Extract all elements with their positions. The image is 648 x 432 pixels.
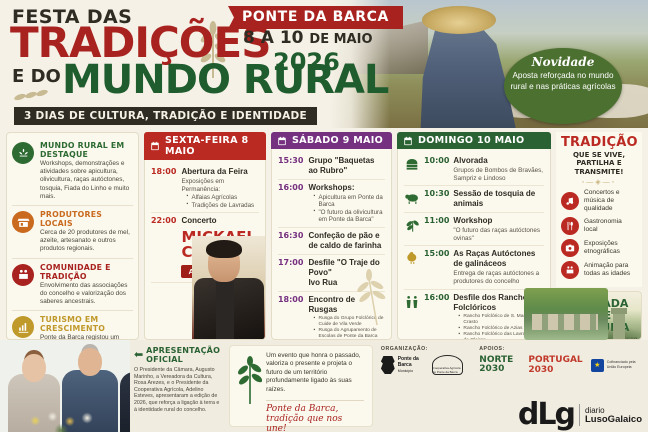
beehive-icon	[404, 157, 420, 173]
highlight-item: MUNDO RURAL EM DESTAQUE Workshops, demon…	[12, 137, 133, 206]
tradition-item: Gastronomia local	[561, 217, 637, 235]
event-dates-main: 8 A 10	[243, 28, 303, 48]
event-time: 15:00	[424, 249, 449, 285]
church-tower-illustration	[613, 313, 625, 339]
event-dates: 8 A 10 DE MAIO	[243, 28, 373, 48]
logo-ponte-da-barca-name: Ponte da Barca	[398, 356, 419, 368]
day-header-sunday: DOMINGO 10 MAIO	[397, 132, 551, 149]
calendar-icon	[277, 136, 287, 146]
tradition-panel: TRADIÇÃO QUE SE VIVE, PARTILHA E TRANSMI…	[556, 132, 642, 287]
plant-icon	[12, 142, 34, 164]
support-label: APOIOS:	[479, 346, 642, 352]
logo-european-union: Cofinanciado pela União Europeia	[591, 359, 642, 372]
logo-divider	[579, 404, 580, 426]
event-title: Confeção de pão e de caldo de farinha	[308, 231, 385, 251]
event-sublist: Apicultura em Ponte da Barca "O futuro d…	[313, 194, 385, 224]
calendar-icon	[403, 136, 413, 146]
event-time: 10:00	[424, 156, 449, 182]
event-title: Sessão de tosquia de animais	[453, 189, 544, 209]
event-row: 15:00 As Raças Autóctones de galináceos …	[404, 246, 544, 289]
bridge-photo	[524, 288, 608, 340]
event-time: 17:00	[278, 258, 303, 288]
event-row: 10:30 Sessão de tosquia de animais	[404, 186, 544, 213]
highlight-title: TURISMO EM CRESCIMENTO	[40, 315, 133, 333]
event-note: Exposições em Permanência:	[181, 178, 259, 193]
event-note: Grupos de Bombos de Bravães, Sampriz e L…	[453, 167, 544, 182]
footer-section: ⬅ APRESENTAÇÃO OFICIAL O Presidente da C…	[0, 340, 648, 432]
hero-subtitle: 3 DIAS DE CULTURA, TRADIÇÃO E IDENTIDADE	[14, 107, 317, 125]
event-time: 16:00	[424, 293, 449, 340]
event-time: 18:00	[151, 167, 176, 209]
novidade-title: Novidade	[504, 55, 622, 69]
cutlery-icon	[561, 217, 579, 235]
highlight-title: COMUNIDADE E TRADIÇÃO	[40, 263, 133, 281]
tradition-item: Animação para todas as idades	[561, 261, 637, 279]
message-block: Um evento que honra o passado, valoriza …	[229, 345, 373, 427]
day-column-friday: SEXTA-FEIRA 8 MAIO 18:00 Abertura da Fei…	[144, 132, 266, 340]
ornament-divider: ◦—◈—◦	[561, 178, 637, 186]
olive-branch-icon	[404, 217, 420, 233]
highlight-title: PRODUTORES LOCAIS	[40, 210, 133, 228]
logo-cooperativa-name: Cooperativa Agrícola de Ponte da Barca	[433, 366, 463, 374]
hero-banner: FESTA DAS TRADIÇÕES E DO MUNDO RURAL 3 D…	[0, 0, 648, 128]
event-time: 15:30	[278, 156, 303, 176]
logo-ponte-da-barca: Ponte da Barca Município	[381, 356, 426, 374]
highlight-item: COMUNIDADE E TRADIÇÃO Envolvimento das a…	[12, 259, 133, 312]
highlights-panel: MUNDO RURAL EM DESTAQUE Workshops, demon…	[6, 132, 139, 340]
highlight-text: Cerca de 20 produtores de mel, azeite, a…	[40, 229, 133, 254]
event-time: 16:30	[278, 231, 303, 251]
event-year: 2026	[273, 48, 340, 76]
event-row: 16:30 Confeção de pão e de caldo de fari…	[278, 228, 385, 255]
event-title: Workshop	[453, 216, 544, 226]
tradition-item-text: Concertos e música de qualidade	[584, 189, 637, 213]
event-title: Alvorada	[453, 156, 544, 166]
presentation-text: O Presidente da Câmara, Augusto Marinho,…	[134, 367, 220, 413]
dlg-monogram: dLg	[518, 402, 574, 428]
day-body-saturday: 15:30 Grupo "Baquetas ao Rubro" 16:00 Wo…	[271, 149, 392, 340]
logo-eu-name: Cofinanciado pela União Europeia	[607, 360, 642, 369]
event-sublist-item: Alfaias Agrícolas	[186, 194, 259, 201]
location-ribbon: PONTE DA BARCA	[228, 6, 403, 29]
event-sublist-item: Tradições de Lavradas	[186, 202, 259, 209]
presentation-block: ⬅ APRESENTAÇÃO OFICIAL O Presidente da C…	[130, 340, 225, 432]
logo-cooperativa-agricola: Cooperativa Agrícola de Ponte da Barca	[432, 355, 464, 375]
arrow-left-icon: ⬅	[134, 350, 143, 361]
tradition-subtitle: QUE SE VIVE, PARTILHA E TRANSMITE!	[561, 151, 637, 176]
event-time: 18:00	[278, 295, 303, 340]
day-header-label: SÁBADO 9 MAIO	[292, 135, 383, 146]
people-icon	[561, 261, 579, 279]
event-time: 16:00	[278, 183, 303, 224]
logo-diario-lusogalaico: dLg diario LusoGalaico	[518, 402, 642, 428]
growth-chart-icon	[12, 316, 34, 338]
event-row: 16:00 Desfile dos Ranchos Folclóricos Ra…	[404, 290, 544, 340]
music-note-icon	[561, 192, 579, 210]
municipality-crest-icon	[381, 356, 395, 374]
event-time: 11:00	[424, 216, 449, 242]
tradition-title: TRADIÇÃO	[561, 135, 637, 150]
tradition-item-text: Animação para todas as idades	[584, 262, 637, 278]
event-sublist-item: Rusga do Agrupamento de Escolas de Ponte…	[313, 328, 385, 340]
day-body-friday: 18:00 Abertura da Feira Exposições em Pe…	[144, 160, 266, 340]
wheat-small-icon	[14, 88, 50, 104]
novidade-body: Aposta reforçada no mundo rural e nas pr…	[504, 71, 622, 92]
camera-icon	[561, 239, 579, 257]
eu-flag-icon	[591, 359, 604, 372]
tradition-item: Concertos e música de qualidade	[561, 189, 637, 213]
press-conference-photo	[0, 340, 130, 432]
logos-block: ORGANIZAÇÃO: Ponte da Barca Município Co…	[377, 340, 648, 432]
event-row: 18:00 Abertura da Feira Exposições em Pe…	[151, 164, 259, 213]
day-header-friday: SEXTA-FEIRA 8 MAIO	[144, 132, 266, 160]
event-dates-suffix: DE MAIO	[309, 32, 372, 47]
event-time: 22:00	[151, 216, 176, 279]
logo-portugal-2030: PORTUGAL 2030	[528, 355, 582, 375]
event-title: Workshops:	[308, 183, 385, 193]
event-note: "O futuro das raças autóctones ovinas"	[453, 227, 544, 242]
event-sublist-item: Apicultura em Ponte da Barca	[313, 194, 385, 209]
logo-ponte-da-barca-sub: Município	[398, 368, 426, 374]
event-time: 10:30	[424, 189, 449, 209]
sheep-icon	[404, 190, 420, 206]
logo-norte-2030-name: NORTE 2030	[479, 355, 513, 374]
people-icon	[12, 264, 34, 286]
flower-arrangement	[18, 404, 114, 432]
artist-photo	[192, 236, 266, 340]
person-photo	[120, 372, 130, 432]
message-text: Um evento que honra o passado, valoriza …	[266, 352, 364, 394]
tradition-item-text: Gastronomia local	[584, 218, 637, 234]
highlight-item: PRODUTORES LOCAIS Cerca de 20 produtores…	[12, 206, 133, 259]
media-name-line2: LusoGalaico	[585, 414, 642, 425]
market-stall-icon	[12, 211, 34, 233]
highlight-title: MUNDO RURAL EM DESTAQUE	[40, 141, 133, 159]
hen-icon	[404, 250, 420, 266]
event-title: As Raças Autóctones de galináceos	[453, 249, 544, 269]
event-row: 11:00 Workshop "O futuro das raças autóc…	[404, 213, 544, 246]
highlight-text: Envolvimento das associações do concelho…	[40, 282, 133, 307]
day-header-label: DOMINGO 10 MAIO	[418, 135, 525, 146]
straw-hat-element	[422, 6, 496, 34]
title-line-3: E DO	[12, 66, 61, 87]
message-slogan: Ponte da Barca, tradição que nos une!	[266, 400, 364, 432]
event-sublist: Alfaias Agrícolas Tradições de Lavradas	[186, 194, 259, 209]
novidade-badge: Novidade Aposta reforçada no mundo rural…	[504, 48, 622, 124]
tradition-item: Exposições etnográficas	[561, 239, 637, 257]
poster-root: FESTA DAS TRADIÇÕES E DO MUNDO RURAL 3 D…	[0, 0, 648, 432]
day-header-label: SEXTA-FEIRA 8 MAIO	[165, 135, 260, 157]
event-title: Abertura da Feira	[181, 167, 259, 177]
tradition-item-text: Exposições etnográficas	[584, 240, 637, 256]
organization-label: ORGANIZAÇÃO:	[381, 346, 463, 352]
presentation-heading: APRESENTAÇÃO OFICIAL	[146, 346, 220, 364]
wheat-decor-icon	[353, 261, 392, 325]
highlight-text: Workshops, demonstrações e atividades so…	[40, 160, 133, 201]
event-title: Concerto	[181, 216, 266, 226]
olive-branch-icon	[234, 354, 262, 404]
event-row: 15:30 Grupo "Baquetas ao Rubro"	[278, 153, 385, 180]
logo-portugal-2030-name: PORTUGAL 2030	[528, 355, 582, 375]
folk-dancers-icon	[404, 294, 420, 310]
day-column-saturday: SÁBADO 9 MAIO 15:30 Grupo "Baquetas ao R…	[271, 132, 392, 340]
calendar-icon	[150, 141, 160, 151]
logo-norte-2030: NORTE 2030	[479, 356, 520, 374]
event-note: Entrega de raças autóctones a produtores…	[453, 270, 544, 285]
day-header-saturday: SÁBADO 9 MAIO	[271, 132, 392, 149]
event-row: 10:00 Alvorada Grupos de Bombos de Bravã…	[404, 153, 544, 186]
event-title: Grupo "Baquetas ao Rubro"	[308, 156, 385, 176]
event-row: 16:00 Workshops: Apicultura em Ponte da …	[278, 180, 385, 228]
event-sublist-item: "O futuro da olivicultura em Ponte da Ba…	[313, 209, 385, 224]
